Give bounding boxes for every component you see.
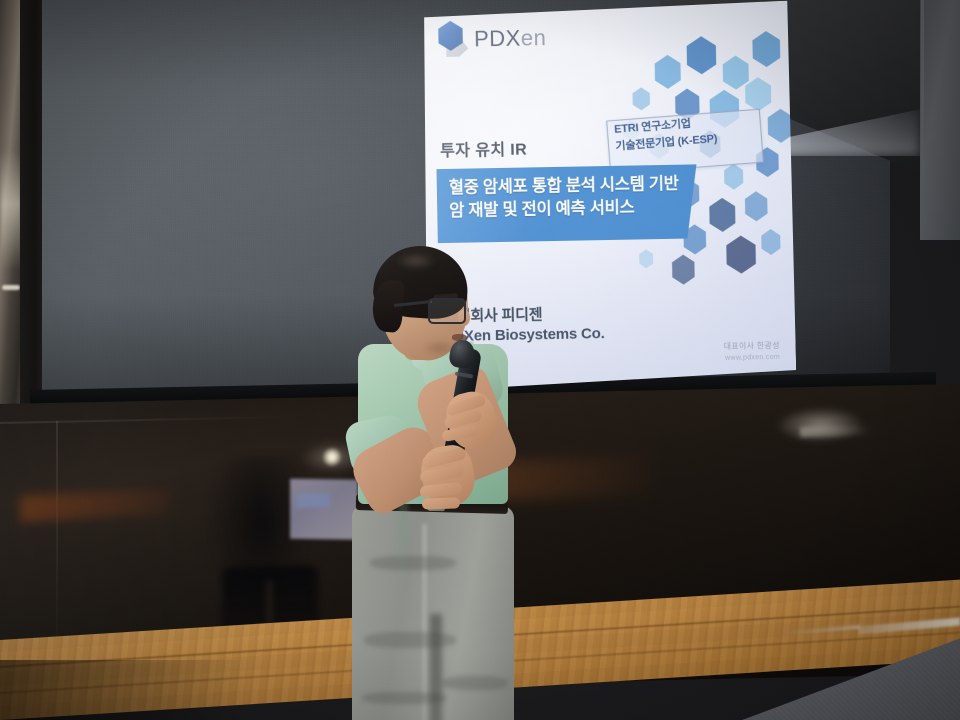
trousers-fold (442, 676, 508, 690)
wall-reflection-slide-detail (296, 493, 330, 508)
trousers-fold (370, 556, 456, 570)
hair-highlight (396, 252, 436, 270)
column-glint-highlight (2, 285, 20, 290)
wall-reflection-pale-streak (800, 426, 872, 438)
presenter (330, 240, 560, 720)
photo-scene: PDXen ETRI 연구소기업 기술전문기업 (K-ESP) 투자 유치 IR… (0, 0, 960, 720)
shirt-fold (398, 494, 408, 590)
glasses-lens (428, 298, 466, 324)
trousers-crease (422, 524, 427, 720)
right-wall-panel (920, 0, 960, 240)
soffit-edge-highlight (921, 0, 924, 190)
finger (422, 497, 460, 509)
trousers-leg-separation (430, 614, 442, 720)
wall-reflection-pale-right (775, 406, 865, 444)
trousers-fold (362, 692, 446, 704)
column-glint (0, 150, 22, 270)
trousers-fold (364, 632, 456, 648)
floor-shadow-left (0, 660, 250, 720)
